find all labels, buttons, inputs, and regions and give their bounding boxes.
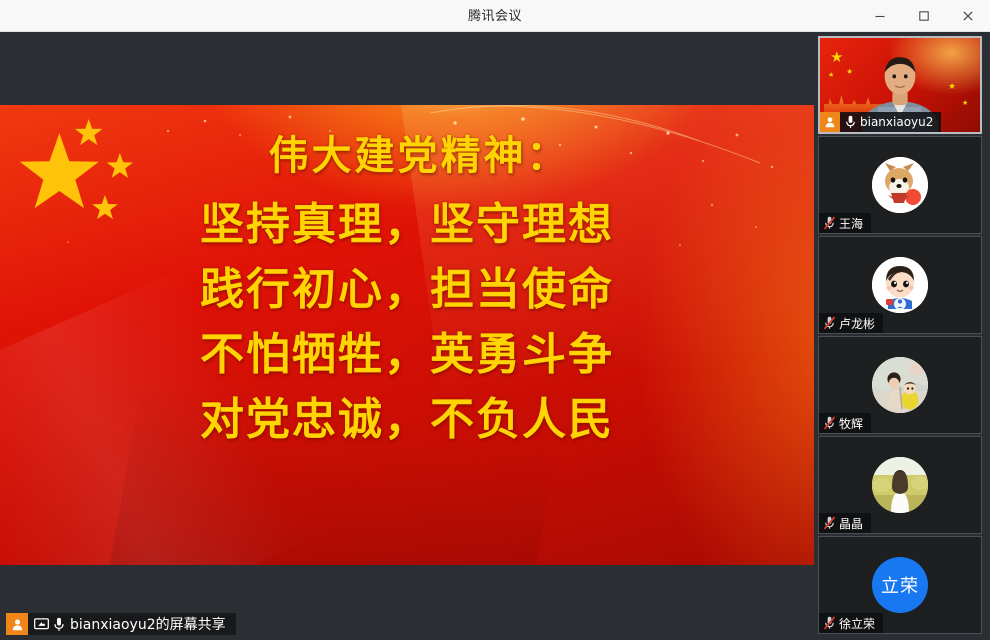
maximize-icon xyxy=(918,10,930,22)
avatar xyxy=(872,257,928,313)
participant-name-pill: 卢龙彬 xyxy=(819,313,883,333)
participant-tile[interactable]: 卢龙彬 xyxy=(818,236,982,334)
participant-name-pill: 晶晶 xyxy=(819,513,871,533)
participant-rail[interactable]: ★ ★ ★ ★ ★ xyxy=(814,32,990,640)
person-icon xyxy=(824,116,836,128)
host-badge xyxy=(820,112,840,132)
participant-name: 晶晶 xyxy=(839,515,863,532)
slide-line-1: 坚持真理，坚守理想 xyxy=(200,203,614,248)
avatar xyxy=(872,157,928,213)
participant-tile[interactable]: 晶晶 xyxy=(818,436,982,534)
microphone-icon xyxy=(840,112,860,132)
illustration-avatar-icon xyxy=(872,357,928,413)
shared-screen-stage[interactable]: 伟大建党精神： 坚持真理，坚守理想 践行初心，担当使命 不怕牺牲，英勇斗争 对党… xyxy=(0,32,814,607)
shiba-dog-avatar-icon xyxy=(872,157,928,213)
avatar xyxy=(872,457,928,513)
screen-share-bar: bianxiaoyu2的屏幕共享 xyxy=(0,607,814,640)
close-icon xyxy=(962,10,974,22)
participant-name: 卢龙彬 xyxy=(839,315,875,332)
microphone-muted-icon xyxy=(819,513,839,533)
host-badge xyxy=(6,613,28,635)
participant-tile[interactable]: 牧辉 xyxy=(818,336,982,434)
participant-tile[interactable]: ★ ★ ★ ★ ★ xyxy=(818,36,982,134)
screen-share-label: bianxiaoyu2的屏幕共享 xyxy=(70,614,236,634)
avatar-initials: 立荣 xyxy=(881,572,919,598)
maximize-button[interactable] xyxy=(902,0,946,32)
participant-name: 牧辉 xyxy=(839,415,863,432)
slide-title: 伟大建党精神： xyxy=(245,131,570,181)
participant-name: 徐立荣 xyxy=(839,615,875,632)
window-title: 腾讯会议 xyxy=(0,0,990,32)
cartoon-boy-avatar-icon xyxy=(872,257,928,313)
minimize-icon xyxy=(874,10,886,22)
participant-name: 王海 xyxy=(839,215,863,232)
microphone-muted-icon xyxy=(819,313,839,333)
participant-name-pill: 徐立荣 xyxy=(819,613,883,633)
participant-name-pill: 王海 xyxy=(819,213,871,233)
slide-line-3: 不怕牺牲，英勇斗争 xyxy=(200,333,614,378)
photo-field-avatar-icon xyxy=(872,457,928,513)
slide-text-block: 伟大建党精神： 坚持真理，坚守理想 践行初心，担当使命 不怕牺牲，英勇斗争 对党… xyxy=(0,105,814,565)
title-bar: 腾讯会议 xyxy=(0,0,990,32)
person-icon xyxy=(11,618,24,631)
participant-tile[interactable]: 王海 xyxy=(818,136,982,234)
close-button[interactable] xyxy=(946,0,990,32)
slide-line-2: 践行初心，担当使命 xyxy=(200,268,614,313)
tencent-meeting-window: 腾讯会议 xyxy=(0,0,990,640)
screen-share-icon xyxy=(34,618,49,631)
microphone-icon xyxy=(53,617,65,632)
participant-name-pill: bianxiaoyu2 xyxy=(820,112,949,132)
slide-line-4: 对党忠诚，不负人民 xyxy=(200,398,614,443)
microphone-muted-icon xyxy=(819,213,839,233)
avatar: 立荣 xyxy=(872,557,928,613)
microphone-muted-icon xyxy=(819,613,839,633)
shared-slide: 伟大建党精神： 坚持真理，坚守理想 践行初心，担当使命 不怕牺牲，英勇斗争 对党… xyxy=(0,105,814,565)
participant-tile[interactable]: 立荣 徐立荣 xyxy=(818,536,982,634)
minimize-button[interactable] xyxy=(858,0,902,32)
microphone-muted-icon xyxy=(819,413,839,433)
screen-share-indicator[interactable]: bianxiaoyu2的屏幕共享 xyxy=(6,613,236,635)
participant-name: bianxiaoyu2 xyxy=(860,115,933,129)
avatar xyxy=(872,357,928,413)
participant-name-pill: 牧辉 xyxy=(819,413,871,433)
